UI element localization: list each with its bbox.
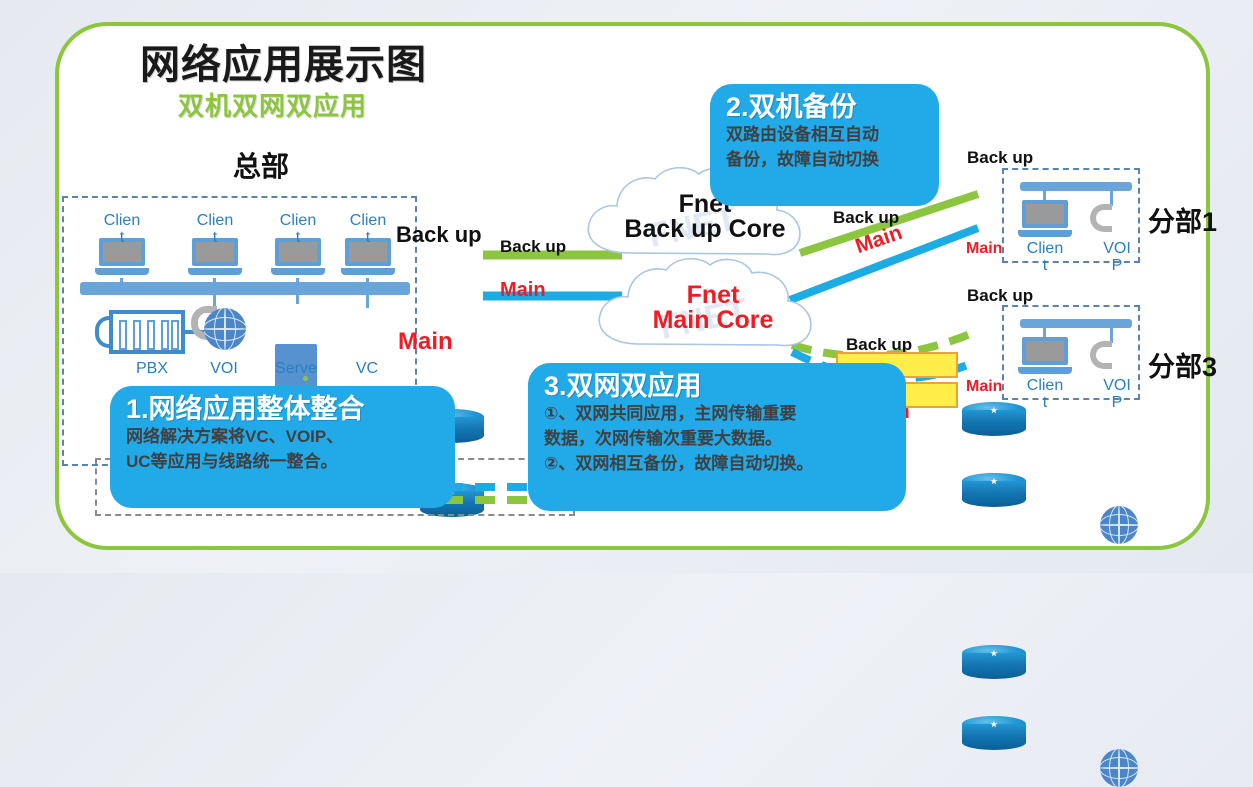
callout-1-line-1: 网络解决方案将VC、VOIP、 bbox=[126, 425, 441, 449]
branch-3-voip-label-l2: P bbox=[1112, 394, 1123, 411]
callout-1[interactable]: 1.网络应用整体整合 网络解决方案将VC、VOIP、 UC等应用与线路统一整合。 bbox=[110, 386, 455, 508]
branch-1-main-router[interactable]: ⋆ bbox=[962, 473, 1026, 507]
branch-1-client-icon bbox=[1018, 200, 1072, 240]
branch-3-voip-label-l1: VOI bbox=[1103, 377, 1131, 394]
branch-3-client-label-l2: t bbox=[1043, 394, 1047, 411]
callout-1-heading: 1.网络应用整体整合 bbox=[126, 394, 441, 424]
callout-3[interactable]: 3.双网双应用 ①、双网共同应用，主网传输重要 数据，次网传输次重要大数据。 ②… bbox=[528, 363, 906, 511]
link-label-hq-backup: Back up bbox=[500, 237, 566, 257]
callout-2-line-2: 备份，故障自动切换 bbox=[726, 148, 925, 172]
callout-2[interactable]: 2.双机备份 双路由设备相互自动 备份，故障自动切换 bbox=[710, 84, 939, 206]
backup-core-line2: Back up Core bbox=[624, 215, 785, 243]
main-core-line2: Main Core bbox=[653, 306, 774, 334]
callout-1-line-2: UC等应用与线路统一整合。 bbox=[126, 450, 441, 474]
main-core-line1: Fnet bbox=[687, 281, 740, 309]
branch-1-voip-globe-icon bbox=[1100, 506, 1138, 544]
diagram-canvas: 网络应用展示图 双机双网双应用 总部 Clien t Clien t Clien… bbox=[0, 0, 1253, 573]
branch-1-client-label-l2: t bbox=[1043, 257, 1047, 274]
branch-3-client-icon bbox=[1018, 337, 1072, 377]
branch-3-lan-bus bbox=[1020, 319, 1132, 328]
branch-1-client-label-l1: Clien bbox=[1027, 240, 1063, 257]
branch-3-backup-router-label: Back up bbox=[967, 286, 1033, 306]
branch-1-voip-label-l2: P bbox=[1112, 257, 1123, 274]
branch-3-main-router[interactable]: ⋆ bbox=[962, 716, 1026, 750]
branch-3-voip-globe-icon bbox=[1100, 749, 1138, 787]
branch-3-client-label: Clien t bbox=[1016, 377, 1074, 411]
callout-3-line-3: ②、双网相互备份，故障自动切换。 bbox=[544, 452, 892, 476]
branch-1-lan-bus bbox=[1020, 182, 1132, 191]
branch-1-voip-label-l1: VOI bbox=[1103, 240, 1131, 257]
link-label-hq-main: Main bbox=[500, 279, 546, 302]
branch-3-voip-label: VOI P bbox=[1090, 377, 1144, 411]
branch-3-client-label-l1: Clien bbox=[1027, 377, 1063, 394]
branch-3-name: 分部3 bbox=[1148, 345, 1217, 384]
branch-3-backup-router[interactable]: ⋆ bbox=[962, 645, 1026, 679]
branch-1-client-label: Clien t bbox=[1016, 240, 1074, 274]
branch-3-main-router-label: Main bbox=[966, 378, 1002, 396]
callout-3-heading: 3.双网双应用 bbox=[544, 371, 892, 401]
branch-1-name: 分部1 bbox=[1148, 200, 1217, 239]
callout-2-heading: 2.双机备份 bbox=[726, 92, 925, 122]
callout-3-line-2: 数据，次网传输次重要大数据。 bbox=[544, 427, 892, 451]
callout-3-line-1: ①、双网共同应用，主网传输重要 bbox=[544, 402, 892, 426]
branch-1-voip-label: VOI P bbox=[1090, 240, 1144, 274]
branch-1-backup-router-label: Back up bbox=[967, 148, 1033, 168]
callout-2-line-1: 双路由设备相互自动 bbox=[726, 123, 925, 147]
main-core-label: Fnet Main Core bbox=[598, 283, 828, 333]
branch-1-main-router-label: Main bbox=[966, 240, 1002, 258]
